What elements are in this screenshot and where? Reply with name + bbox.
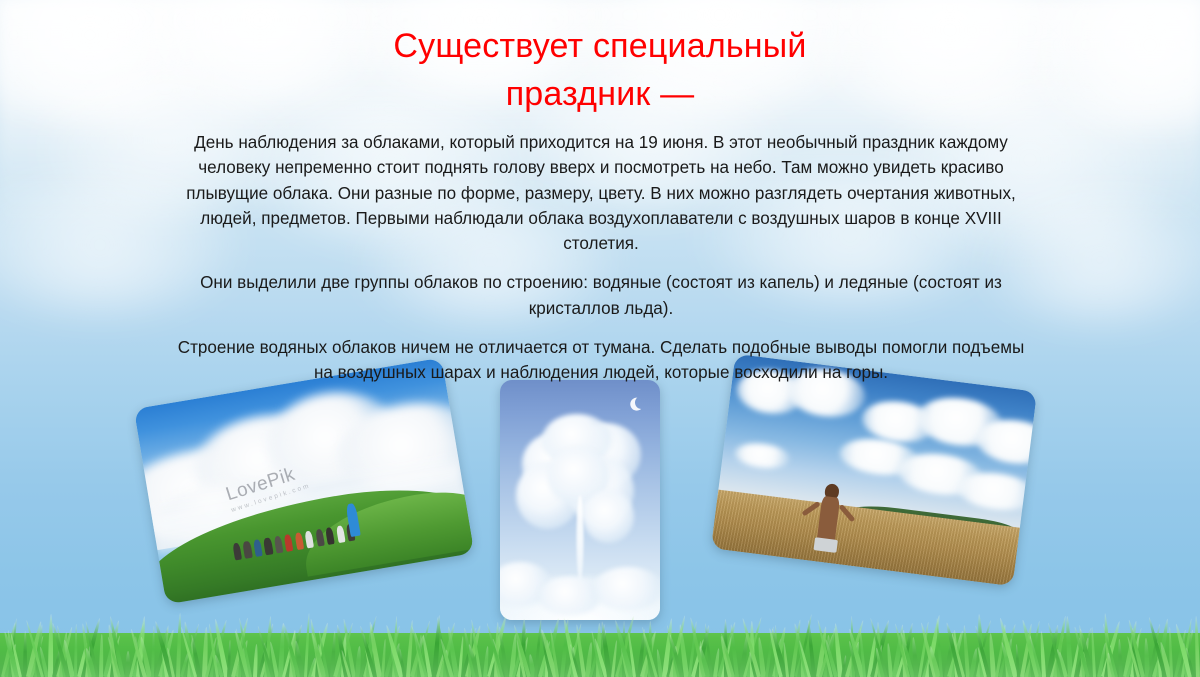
body-paragraph-3: Строение водяных облаков ничем не отлича… [168,335,1034,386]
photo-man-in-wheat-field[interactable] [711,354,1037,587]
photo-people-on-green-hill[interactable]: LovePik www.lovepik.com [134,358,474,605]
photo-rose-content [500,380,660,620]
photo-hill-content: LovePik www.lovepik.com [134,358,474,605]
body-paragraph-2: Они выделили две группы облаков по строе… [168,270,1034,321]
right-arm [838,504,855,523]
slide-canvas: Существует специальный праздник — День н… [0,0,1200,677]
base-cloud [593,567,660,610]
photo-cloud-rose-with-moon[interactable] [500,380,660,620]
slide-title-line-1: Существует специальный [0,22,1200,70]
grass-sheen [0,611,1200,677]
man-with-outstretched-arms [792,463,868,549]
foreground-grass [0,611,1200,677]
rose-stem [577,495,584,581]
slide-title-line-2: праздник — [0,70,1200,118]
photo-wheat-content [711,354,1037,587]
left-arm [801,501,821,517]
slide-body-text: День наблюдения за облаками, который при… [168,130,1034,386]
pants [813,537,837,552]
body-paragraph-1: День наблюдения за облаками, который при… [168,130,1034,256]
slide-title: Существует специальный праздник — [0,22,1200,119]
